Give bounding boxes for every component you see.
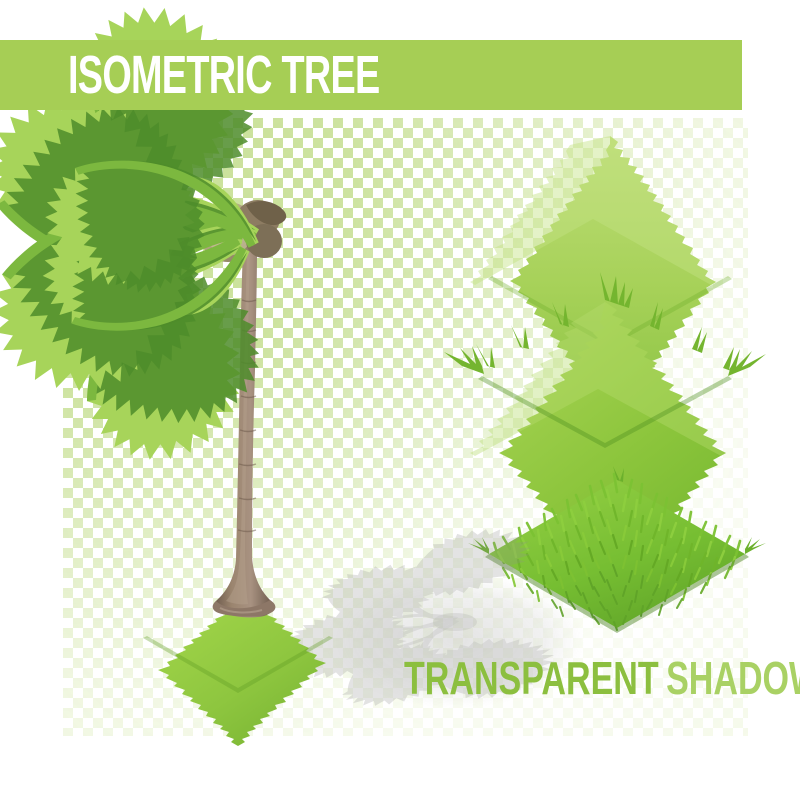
shadow-caption: TRANSPARENTSHADOW xyxy=(404,655,800,701)
caption-word-shadow: SHADOW xyxy=(666,652,800,704)
isometric-palm-tree xyxy=(0,0,333,746)
page-title: ISOMETRIC TREE xyxy=(68,48,380,102)
caption-word-transparent: TRANSPARENT xyxy=(404,652,659,704)
illustration-canvas: ISOMETRIC TREE TRANSPARENTSHADOW xyxy=(0,0,800,800)
